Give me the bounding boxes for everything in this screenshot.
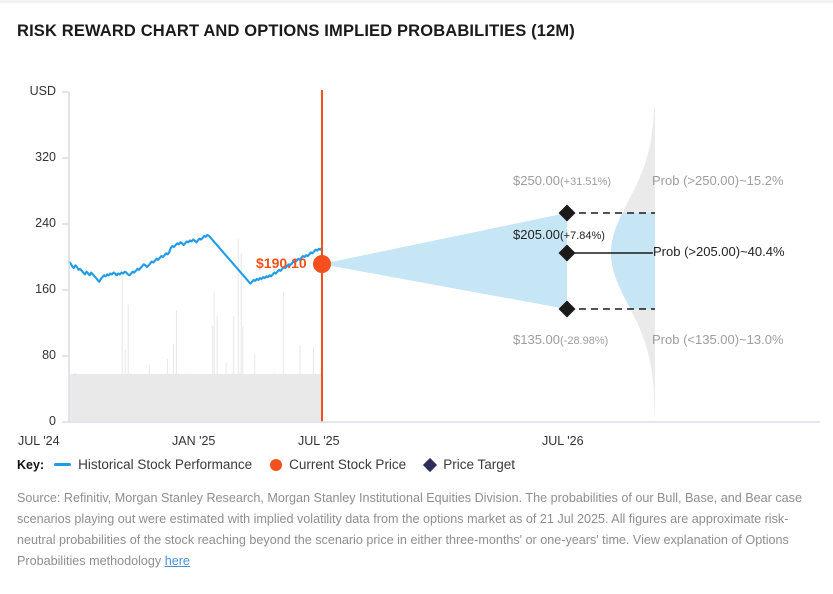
current-price-label: $190.10 bbox=[256, 255, 307, 271]
bear-price-change: (-28.98%) bbox=[560, 335, 608, 347]
bear-price-label: $135.00(-28.98%) bbox=[513, 332, 608, 347]
dot-swatch-icon bbox=[270, 459, 282, 471]
bear-probability-label: Prob (<135.00)~13.0% bbox=[652, 332, 784, 347]
page-title: RISK REWARD CHART AND OPTIONS IMPLIED PR… bbox=[17, 22, 575, 41]
chart-legend: Key: Historical Stock Performance Curren… bbox=[17, 457, 533, 472]
line-swatch-icon bbox=[54, 463, 71, 466]
base-price-label: $205.00(+7.84%) bbox=[513, 227, 605, 242]
y-axis-unit-label: USD bbox=[0, 84, 56, 98]
x-axis-tick-jan-25: JAN '25 bbox=[172, 434, 215, 448]
y-axis-tick-240: 240 bbox=[0, 216, 56, 230]
y-axis-tick-160: 160 bbox=[0, 282, 56, 296]
bull-probability-label: Prob (>250.00)~15.2% bbox=[652, 173, 784, 188]
base-price-value: $205.00 bbox=[513, 227, 560, 242]
base-probability-label: Prob (>205.00)~40.4% bbox=[653, 244, 785, 259]
x-axis-tick-jul-26: JUL '26 bbox=[542, 434, 584, 448]
x-axis-tick-jul-25: JUL '25 bbox=[298, 434, 340, 448]
legend-item-price-target: Price Target bbox=[424, 457, 515, 472]
legend-item-historical: Historical Stock Performance bbox=[54, 457, 252, 472]
source-note: Source: Refinitiv, Morgan Stanley Resear… bbox=[17, 488, 817, 572]
legend-item-current-price-label: Current Stock Price bbox=[289, 457, 406, 472]
y-axis-tick-80: 80 bbox=[0, 348, 56, 362]
base-price-change: (+7.84%) bbox=[560, 230, 605, 242]
y-axis-tick-320: 320 bbox=[0, 150, 56, 164]
y-axis-ticks bbox=[62, 92, 69, 422]
diamond-swatch-icon bbox=[423, 457, 437, 471]
methodology-link[interactable]: here bbox=[165, 554, 190, 568]
bull-price-label: $250.00(+31.51%) bbox=[513, 173, 611, 188]
legend-title: Key: bbox=[17, 458, 44, 472]
source-note-text: Source: Refinitiv, Morgan Stanley Resear… bbox=[17, 491, 802, 568]
legend-item-current-price: Current Stock Price bbox=[270, 457, 406, 472]
probability-distribution bbox=[611, 107, 655, 417]
y-axis-tick-0: 0 bbox=[0, 414, 56, 428]
bull-price-change: (+31.51%) bbox=[560, 176, 611, 188]
legend-item-price-target-label: Price Target bbox=[443, 457, 515, 472]
chart-canvas bbox=[0, 72, 833, 447]
legend-item-historical-label: Historical Stock Performance bbox=[78, 457, 252, 472]
risk-reward-chart: USD 320 240 160 80 0 JUL '24 JAN '25 JUL… bbox=[0, 72, 833, 447]
top-divider bbox=[0, 0, 833, 3]
current-price-dot bbox=[313, 255, 331, 273]
bear-price-value: $135.00 bbox=[513, 332, 560, 347]
x-axis-tick-jul-24: JUL '24 bbox=[18, 434, 60, 448]
bull-price-value: $250.00 bbox=[513, 173, 560, 188]
